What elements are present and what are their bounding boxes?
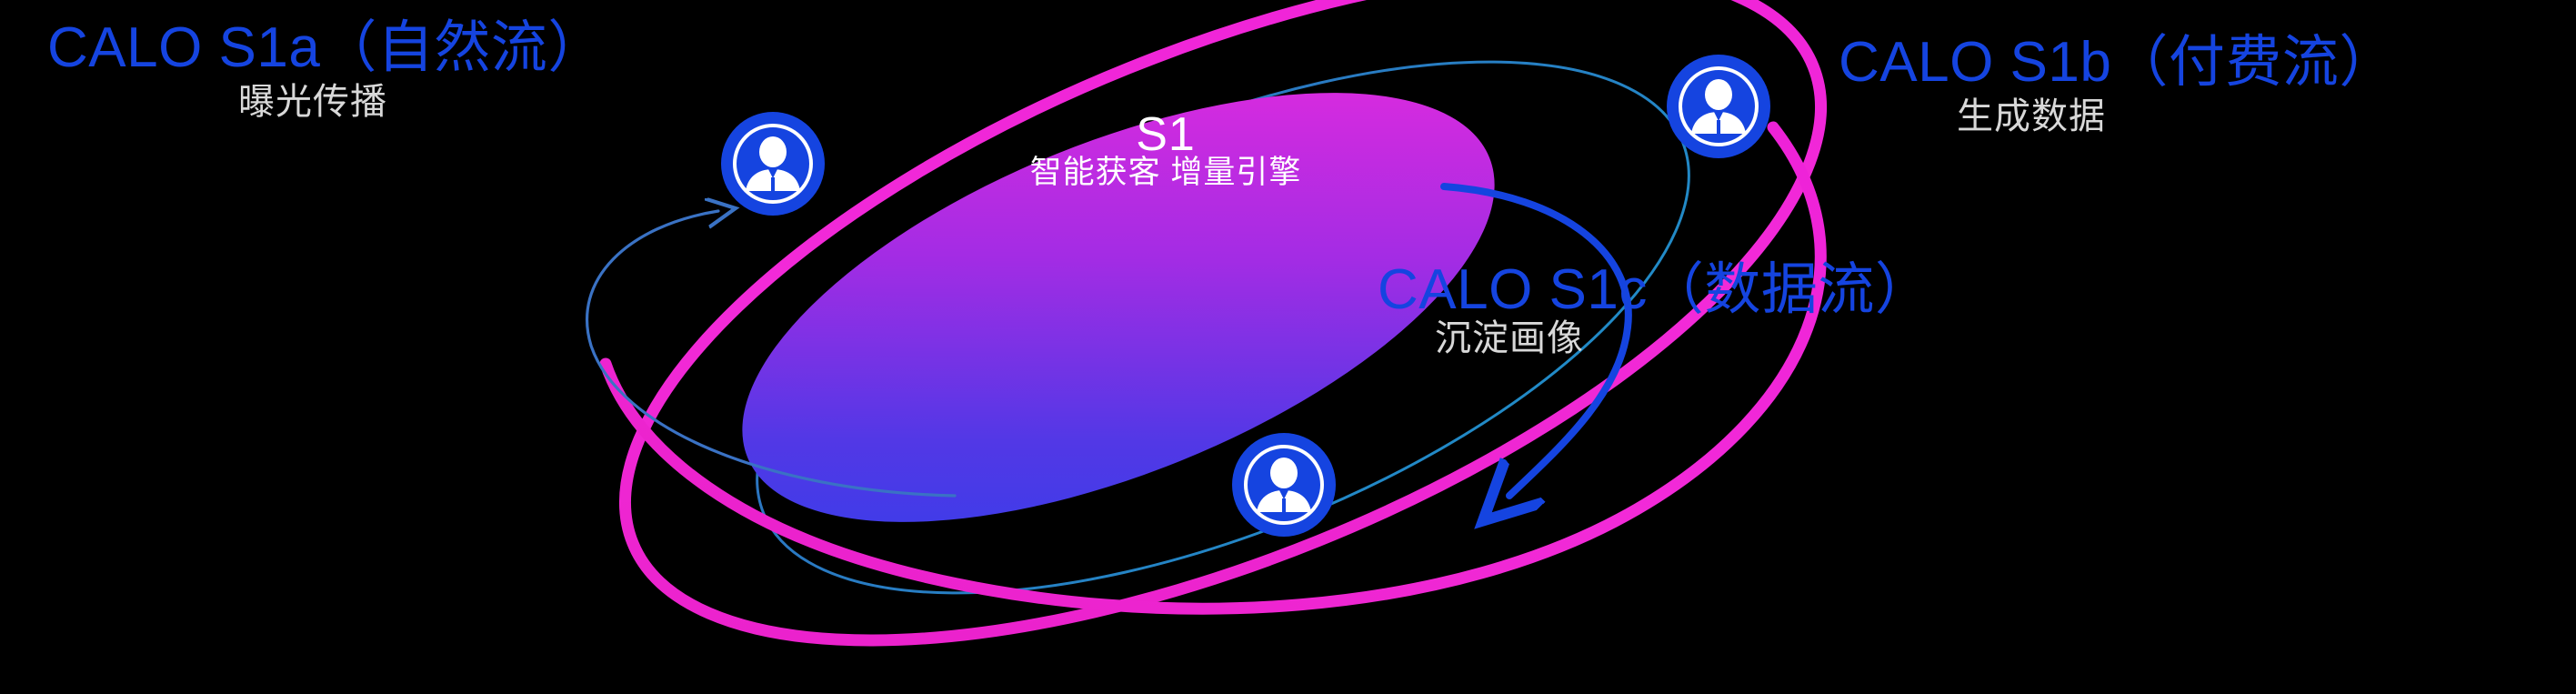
node-s1a[interactable] — [721, 112, 825, 216]
flow-subtitle-s1a: 曝光传播 — [238, 84, 387, 120]
flow-title-s1c: CALO S1c（数据流） — [1378, 262, 1931, 318]
flow-subtitle-s1b: 生成数据 — [1957, 98, 2106, 135]
flow-title-s1a: CALO S1a（自然流） — [47, 20, 605, 76]
diagram-canvas: CALO S1a（自然流） 曝光传播 CALO S1b（付费流） 生成数据 CA… — [0, 0, 2576, 694]
node-s1c[interactable] — [1232, 433, 1336, 537]
flow-subtitle-s1c: 沉淀画像 — [1435, 320, 1584, 357]
flow-title-s1b: CALO S1b（付费流） — [1839, 35, 2396, 91]
node-s1b[interactable] — [1667, 55, 1770, 158]
